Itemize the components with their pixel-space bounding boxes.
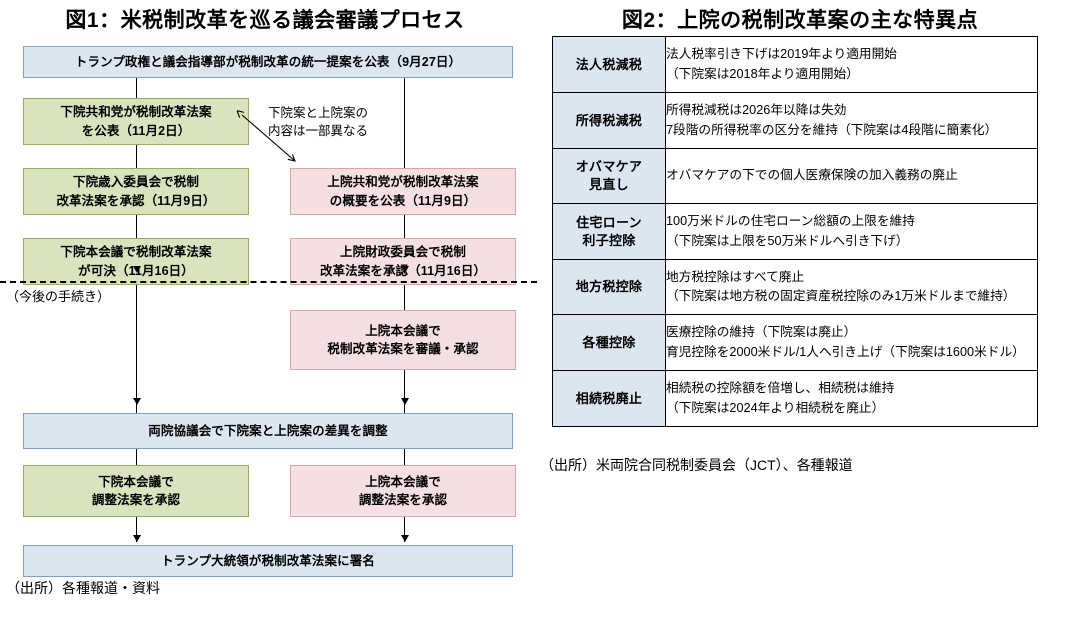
category-line: 見直し [553, 176, 665, 194]
description-line: オバマケアの下での個人医療保険の加入義務の廃止 [666, 166, 1037, 185]
arrowhead-senate-final-to-sign [401, 535, 409, 542]
node-president-signs-label: トランプ大統領が税制改革法案に署名 [161, 552, 375, 570]
table-row-category: 相続税廃止 [553, 371, 666, 427]
connector-conference-to-senate-final [404, 449, 405, 465]
table-row-description: 100万米ドルの住宅ローン総額の上限を維持（下院案は上限を50万米ドルへ引き下げ… [666, 204, 1038, 260]
connector-n1-to-house [136, 78, 137, 98]
node-unified-proposal-label: トランプ政権と議会指導部が税制改革の統一提案を公表（9月27日） [75, 53, 461, 71]
table-row-category: 法人税減税 [553, 37, 666, 93]
category-line: 利子控除 [553, 232, 665, 250]
arrowhead-senate-floor-to-conference [401, 398, 409, 405]
connector-house-floor-down [136, 285, 137, 413]
arrowhead-house-final-to-sign [133, 535, 141, 542]
table-row: 各種控除医療控除の維持（下院案は廃止）育児控除を2000米ドル/1人へ引き上げ（… [553, 315, 1038, 371]
node-house-gop-bill: 下院共和党が税制改革法案 を公表（11月2日） [23, 98, 249, 145]
description-line: 地方税控除はすべて廃止 [666, 268, 1037, 287]
description-line: 相続税の控除額を倍増し、相続税は維持 [666, 379, 1037, 398]
table-row-description: 地方税控除はすべて廃止（下院案は地方税の固定資産税控除のみ1万米ドルまで維持） [666, 260, 1038, 315]
node-senate-finance-committee: 上院財政委員会で税制 改革法案を承認（11月16日） [290, 238, 516, 285]
description-line: 育児控除を2000米ドル/1人へ引き上げ（下院案は1600米ドル） [666, 343, 1037, 362]
category-line: 各種控除 [553, 334, 665, 352]
figure1-source: （出所）各種報道・資料 [6, 578, 160, 598]
table-row: 所得税減税所得税減税は2026年以降は失効7段階の所得税率の区分を維持（下院案は… [553, 93, 1038, 149]
description-line: （下院案は2018年より適用開始） [666, 65, 1037, 84]
category-line: 住宅ローン [553, 214, 665, 232]
node-house-gop-bill-line1: 下院共和党が税制改革法案 [60, 103, 211, 121]
future-steps-note: （今後の手続き） [6, 288, 110, 307]
node-house-floor-passage-line1: 下院本会議で税制改革法案 [60, 243, 211, 261]
connector-senate-floor-to-conference [404, 370, 405, 413]
connector-conference-to-house-final [136, 449, 137, 465]
node-senate-finance-committee-line1: 上院財政委員会で税制 [340, 243, 466, 261]
category-line: 相続税廃止 [553, 390, 665, 408]
connector-ways-means-to-house-floor [136, 215, 137, 238]
category-line: 地方税控除 [553, 278, 665, 296]
category-line: オバマケア [553, 158, 665, 176]
description-line: 法人税率引き下げは2019年より適用開始 [666, 45, 1037, 64]
node-senate-gop-outline: 上院共和党が税制改革法案 の概要を公表（11月9日） [290, 168, 516, 215]
table-row: 住宅ローン利子控除100万米ドルの住宅ローン総額の上限を維持（下院案は上限を50… [553, 204, 1038, 260]
table-row-category: 所得税減税 [553, 93, 666, 149]
node-senate-floor-review: 上院本会議で 税制改革法案を審議・承認 [290, 310, 516, 370]
description-line: 所得税減税は2026年以降は失効 [666, 101, 1037, 120]
connector-senate-outline-to-finance [404, 215, 405, 238]
figure2-title: 図2：上院の税制改革案の主な特異点 [540, 4, 1060, 34]
bidirectional-difference-arrow [236, 108, 304, 168]
node-conference-committee-label: 両院協議会で下院案と上院案の差異を調整 [148, 422, 387, 440]
connector-house-bill-to-ways-means [136, 145, 137, 168]
node-house-final-approval-line2: 調整法案を承認 [92, 491, 180, 509]
table-row-description: 所得税減税は2026年以降は失効7段階の所得税率の区分を維持（下院案は4段階に簡… [666, 93, 1038, 149]
future-steps-divider [0, 281, 537, 283]
node-president-signs: トランプ大統領が税制改革法案に署名 [23, 545, 513, 577]
table-row: 法人税減税法人税率引き下げは2019年より適用開始（下院案は2018年より適用開… [553, 37, 1038, 93]
table-row-description: オバマケアの下での個人医療保険の加入義務の廃止 [666, 149, 1038, 204]
node-house-gop-bill-line2: を公表（11月2日） [82, 122, 191, 140]
node-senate-final-approval-line2: 調整法案を承認 [359, 491, 447, 509]
description-line: （下院案は2024年より相続税を廃止） [666, 399, 1037, 418]
arrowhead-house-to-conference [133, 398, 141, 405]
table-row-category: 地方税控除 [553, 260, 666, 315]
node-senate-gop-outline-line2: の概要を公表（11月9日） [330, 192, 476, 210]
figure2-source: （出所）米両院合同税制委員会（JCT）、各種報道 [540, 455, 853, 475]
node-house-ways-and-means: 下院歳入委員会で税制 改革法案を承認（11月9日） [23, 168, 249, 215]
legislative-process-flowchart: トランプ政権と議会指導部が税制改革の統一提案を公表（9月27日） 下院共和党が税… [0, 0, 540, 622]
node-senate-final-approval-line1: 上院本会議で [365, 473, 441, 491]
table-row-category: オバマケア見直し [553, 149, 666, 204]
table-row-category: 各種控除 [553, 315, 666, 371]
category-line: 所得税減税 [553, 112, 665, 130]
node-senate-floor-review-line1: 上院本会議で [365, 322, 441, 340]
node-conference-committee: 両院協議会で下院案と上院案の差異を調整 [23, 413, 513, 449]
node-house-final-approval-line1: 下院本会議で [98, 473, 174, 491]
connector-n1-to-senate [404, 78, 405, 168]
node-senate-final-approval: 上院本会議で 調整法案を承認 [290, 465, 516, 517]
table-row: 地方税控除地方税控除はすべて廃止（下院案は地方税の固定資産税控除のみ1万米ドルま… [553, 260, 1038, 315]
description-line: （下院案は上限を50万米ドルへ引き下げ） [666, 232, 1037, 251]
description-line: 医療控除の維持（下院案は廃止） [666, 323, 1037, 342]
table-row: 相続税廃止相続税の控除額を倍増し、相続税は維持（下院案は2024年より相続税を廃… [553, 371, 1038, 427]
arrowhead-house-floor-down [133, 266, 141, 273]
node-senate-gop-outline-line1: 上院共和党が税制改革法案 [327, 173, 478, 191]
description-line: （下院案は地方税の固定資産税控除のみ1万米ドルまで維持） [666, 287, 1037, 306]
table-row: オバマケア見直しオバマケアの下での個人医療保険の加入義務の廃止 [553, 149, 1038, 204]
category-line: 法人税減税 [553, 56, 665, 74]
table-row-description: 相続税の控除額を倍増し、相続税は維持（下院案は2024年より相続税を廃止） [666, 371, 1038, 427]
node-senate-floor-review-line2: 税制改革法案を審議・承認 [327, 340, 478, 358]
table-row-category: 住宅ローン利子控除 [553, 204, 666, 260]
description-line: 7段階の所得税率の区分を維持（下院案は4段階に簡素化） [666, 121, 1037, 140]
description-line: 100万米ドルの住宅ローン総額の上限を維持 [666, 212, 1037, 231]
node-house-floor-passage: 下院本会議で税制改革法案 が可決（11月16日） [23, 238, 249, 285]
table-row-description: 法人税率引き下げは2019年より適用開始（下院案は2018年より適用開始） [666, 37, 1038, 93]
node-house-ways-and-means-line1: 下院歳入委員会で税制 [73, 173, 199, 191]
senate-plan-differences-table: 法人税減税法人税率引き下げは2019年より適用開始（下院案は2018年より適用開… [552, 36, 1038, 427]
table-row-description: 医療控除の維持（下院案は廃止）育児控除を2000米ドル/1人へ引き上げ（下院案は… [666, 315, 1038, 371]
arrowhead-finance-down [401, 266, 409, 273]
node-house-final-approval: 下院本会議で 調整法案を承認 [23, 465, 249, 517]
node-unified-proposal: トランプ政権と議会指導部が税制改革の統一提案を公表（9月27日） [23, 46, 513, 78]
node-house-ways-and-means-line2: 改革法案を承認（11月9日） [56, 192, 215, 210]
